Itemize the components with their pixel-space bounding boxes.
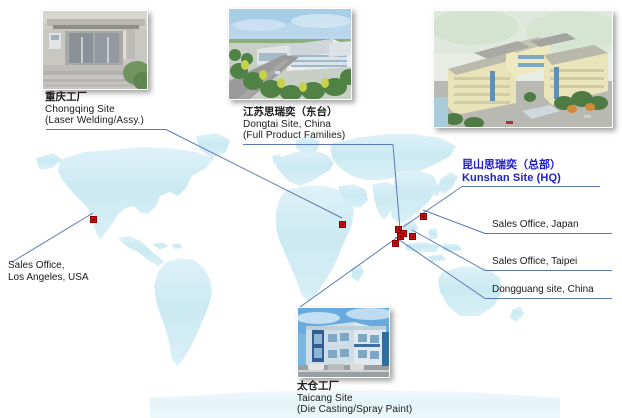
japan-label-text: Sales Office, Japan — [492, 219, 579, 230]
chongqing-caption-detail: (Laser Welding/Assy.) — [45, 115, 144, 127]
taicang-caption-cn: 太仓工厂 — [297, 381, 412, 393]
dongtai-connector — [393, 145, 400, 231]
chongqing-caption-en: Chongqing Site — [45, 104, 144, 116]
taipei-label: Sales Office, Taipei — [492, 256, 577, 267]
los-angeles-connector — [12, 213, 93, 262]
taicang-caption-en: Taicang Site — [297, 393, 412, 405]
marker-taipei — [409, 227, 416, 234]
marker-japan — [420, 207, 427, 214]
kunshan-caption-en: Kunshan Site (HQ) — [462, 172, 561, 185]
los-angeles-label-line2: Los Angeles, USA — [8, 272, 89, 284]
taicang-connector — [300, 237, 398, 307]
svg-text:SRE: SRE — [323, 14, 330, 18]
dongtai-caption: 江苏思瑞奕（东台） Dongtai Site, China (Full Prod… — [243, 107, 345, 142]
dongtai-site-photo: SRE — [228, 8, 352, 100]
marker-dongtai — [397, 227, 404, 234]
dongtai-caption-detail: (Full Product Families) — [243, 130, 345, 142]
dongtai-caption-en: Dongtai Site, China — [243, 119, 345, 131]
global-sites-map-page: SRE — [0, 0, 622, 418]
chongqing-caption: 重庆工厂 Chongqing Site (Laser Welding/Assy.… — [45, 92, 144, 127]
los-angeles-label: Sales Office, Los Angeles, USA — [8, 260, 89, 284]
dongguang-label-text: Dongguang site, China — [492, 284, 594, 295]
taipei-label-text: Sales Office, Taipei — [492, 256, 577, 267]
marker-chongqing — [339, 215, 346, 222]
marker-dongguang — [392, 234, 399, 241]
chongqing-site-photo — [42, 10, 148, 90]
marker-los-angeles — [90, 210, 97, 217]
dongtai-caption-cn: 江苏思瑞奕（东台） — [243, 107, 345, 119]
chongqing-caption-cn: 重庆工厂 — [45, 92, 144, 104]
kunshan-caption: 昆山思瑞奕（总部） Kunshan Site (HQ) — [462, 159, 561, 185]
taicang-caption-detail: (Die Casting/Spray Paint) — [297, 404, 412, 416]
taicang-site-photo — [297, 307, 390, 378]
chongqing-connector — [166, 130, 342, 219]
japan-connector — [423, 210, 485, 234]
taipei-connector — [412, 230, 485, 271]
kunshan-caption-cn: 昆山思瑞奕（总部） — [462, 159, 561, 172]
los-angeles-label-line1: Sales Office, — [8, 260, 89, 272]
japan-label: Sales Office, Japan — [492, 219, 579, 230]
taicang-caption: 太仓工厂 Taicang Site (Die Casting/Spray Pai… — [297, 381, 412, 416]
dongguang-connector — [395, 237, 485, 299]
dongguang-label: Dongguang site, China — [492, 284, 594, 295]
kunshan-hq-photo — [433, 10, 613, 128]
